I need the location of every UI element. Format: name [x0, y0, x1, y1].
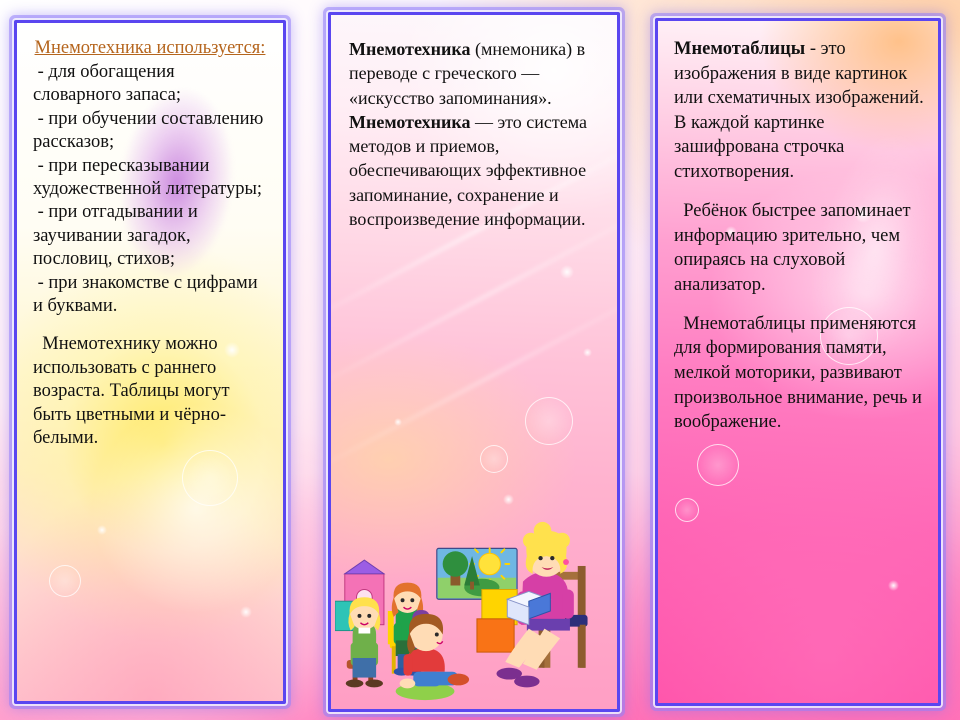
panel-mnemotables: Мнемотаблицы - это изображения в виде ка… [655, 18, 941, 706]
paragraph-spacer [674, 185, 924, 199]
panel-3-definition: Мнемотаблицы - это изображения в виде ка… [674, 37, 924, 185]
paragraph-spacer [33, 319, 267, 333]
panel-3-text-1: - это изображения в виде картинок или сх… [674, 39, 928, 182]
panel-2-definition: Мнемотехника (мнемоника) в переводе с гр… [349, 37, 599, 231]
panel-mnemotechnics-usage: Мнемотехника используется: - для обогаще… [14, 20, 286, 704]
teacher [497, 522, 588, 687]
panel-1-heading: Мнемотехника используется: [33, 37, 267, 60]
panel-mnemotechnics-definition: Мнемотехника (мнемоника) в переводе с гр… [328, 12, 620, 712]
paragraph-spacer [674, 297, 924, 311]
panel-2-term-2: Мнемотехника [349, 112, 470, 132]
panel-2-term-1: Мнемотехника [349, 39, 470, 59]
panel-1-usage-list: - для обогащения словарного запаса; - пр… [33, 61, 267, 319]
poster-canvas: Мнемотехника используется: - для обогаще… [0, 0, 960, 720]
panel-1-age-note: Мнемотехнику можно использовать с раннег… [33, 333, 267, 450]
panel-3-term: Мнемотаблицы [674, 39, 805, 59]
child-girl-blonde [346, 597, 383, 687]
panel-3-benefits-note: Мнемотаблицы применяются для формировани… [674, 312, 924, 435]
panel-3-visual-memory-note: Ребёнок быстрее запоминает информацию зр… [674, 199, 924, 297]
classroom-illustration [335, 515, 613, 707]
